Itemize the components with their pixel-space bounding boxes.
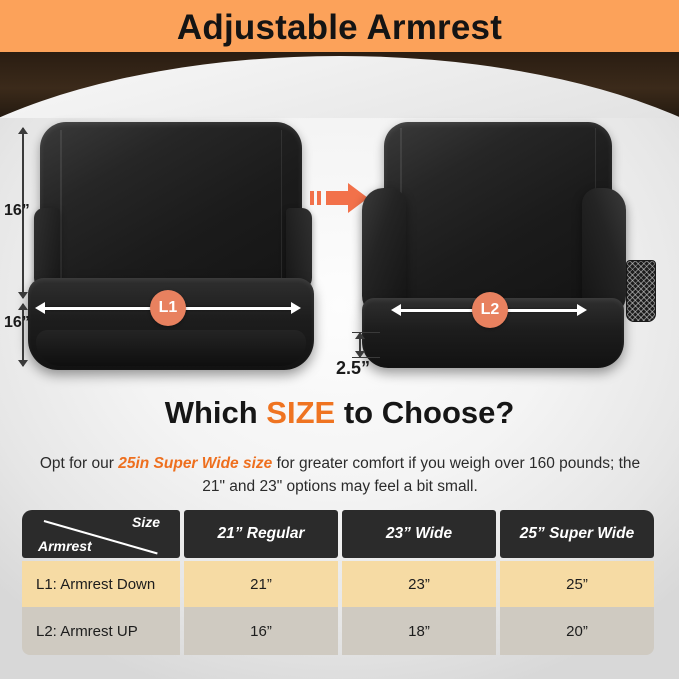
cell-l2-21: 16” bbox=[184, 607, 338, 655]
page-title: Adjustable Armrest bbox=[0, 8, 679, 48]
heading-text-before: Which bbox=[165, 395, 267, 430]
seam-line bbox=[281, 130, 283, 290]
column-header-21: 21” Regular bbox=[184, 510, 338, 558]
thickness-tick-top bbox=[352, 332, 380, 333]
cell-l1-25: 25” bbox=[500, 561, 654, 607]
seam-line bbox=[60, 130, 62, 290]
l1-badge: L1 bbox=[150, 290, 186, 326]
l2-badge: L2 bbox=[472, 292, 508, 328]
table-row: L1: Armrest Down 21” 23” 25” bbox=[22, 561, 658, 607]
row-label-l2: L2: Armrest UP bbox=[22, 607, 180, 655]
cell-l2-23: 18” bbox=[342, 607, 496, 655]
right-armrest-up bbox=[582, 188, 626, 316]
cell-l1-21: 21” bbox=[184, 561, 338, 607]
table-row: L2: Armrest UP 16” 18” 20” bbox=[22, 607, 658, 655]
heading-highlight: SIZE bbox=[266, 395, 335, 430]
cell-l2-25: 20” bbox=[500, 607, 654, 655]
column-header-25: 25” Super Wide bbox=[500, 510, 654, 558]
size-section-heading: Which SIZE to Choose? bbox=[0, 395, 679, 431]
table-header-row: Size Armrest 21” Regular 23” Wide 25” Su… bbox=[22, 510, 658, 558]
heading-text-after: to Choose? bbox=[335, 395, 514, 430]
size-section-description: Opt for our 25in Super Wide size for gre… bbox=[34, 452, 646, 498]
chair-backrest bbox=[40, 122, 302, 300]
cell-l1-23: 23” bbox=[342, 561, 496, 607]
left-armrest-up bbox=[362, 188, 406, 316]
height-label-top: 16” bbox=[4, 202, 30, 220]
chair-seat-front-edge bbox=[36, 330, 306, 366]
armrest-down-chair bbox=[28, 122, 318, 372]
height-label-bottom: 16” bbox=[4, 314, 30, 332]
mesh-side-pocket bbox=[626, 260, 656, 322]
infographic-page: Adjustable Armrest 16” 16” L1 bbox=[0, 0, 679, 679]
column-header-23: 23” Wide bbox=[342, 510, 496, 558]
corner-size-label: Size bbox=[132, 514, 160, 530]
desc-part-one: Opt for our bbox=[40, 455, 118, 472]
armrest-up-chair bbox=[356, 122, 656, 372]
chair-backrest bbox=[384, 122, 612, 302]
size-comparison-table: Size Armrest 21” Regular 23” Wide 25” Su… bbox=[22, 510, 658, 655]
desc-emphasis: 25in Super Wide size bbox=[118, 455, 272, 472]
seat-thickness-label: 2.5” bbox=[336, 358, 370, 379]
table-corner-cell: Size Armrest bbox=[22, 510, 180, 558]
row-label-l1: L1: Armrest Down bbox=[22, 561, 180, 607]
chair-comparison-diagram: 16” 16” L1 L2 bbox=[0, 118, 679, 383]
corner-armrest-label: Armrest bbox=[38, 538, 92, 554]
seat-thickness-line bbox=[359, 333, 361, 357]
